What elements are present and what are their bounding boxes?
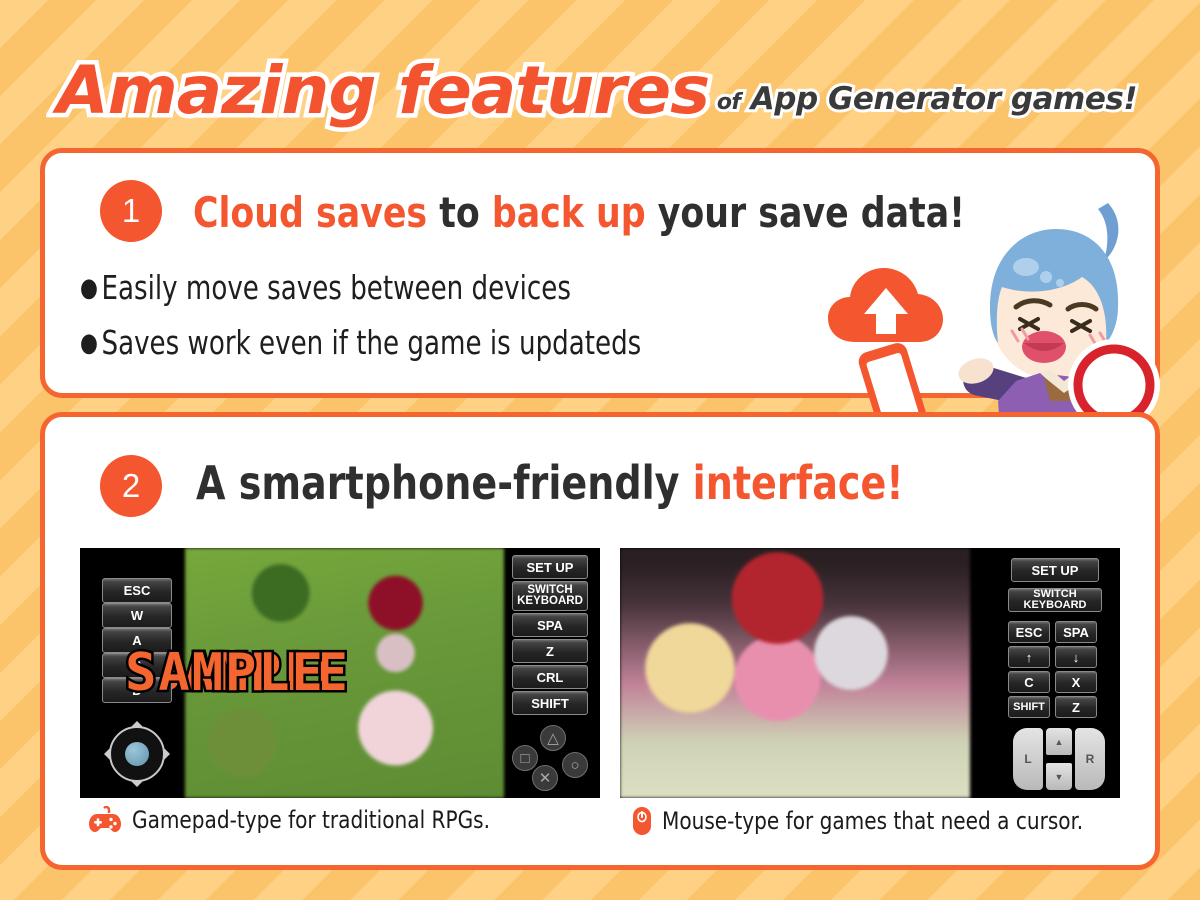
feature-headline-2: A smartphone-friendly interface! — [196, 456, 904, 510]
feature-bullets-1: ●Easily move saves between devices ●Save… — [80, 268, 718, 378]
key-spa-left[interactable]: SPA — [512, 613, 588, 637]
key-c-right[interactable]: C — [1008, 671, 1050, 693]
key-shift-right[interactable]: SHIFT — [1008, 696, 1050, 718]
key-arrow-up-right[interactable]: ↑ — [1008, 646, 1050, 668]
headline-part-cloud-saves: Cloud saves — [193, 188, 427, 237]
headline-part-back-up: back up — [492, 188, 646, 237]
bullet-text: Saves work even if the game is updateds — [101, 323, 641, 362]
caption-gamepad: Gamepad-type for traditional RPGs. — [88, 806, 517, 834]
bullet-text: Easily move saves between devices — [101, 268, 570, 307]
caption-mouse: Mouse-type for games that need a cursor. — [632, 806, 1115, 836]
character-illustration — [940, 195, 1170, 430]
stick-arrow-up-icon — [131, 715, 143, 727]
key-x-right[interactable]: X — [1055, 671, 1097, 693]
face-button-circle[interactable]: ○ — [562, 752, 588, 778]
key-setup-left[interactable]: SET UP — [512, 555, 588, 579]
key-z-right[interactable]: Z — [1055, 696, 1097, 718]
feature-number-badge-1: 1 — [100, 180, 162, 242]
cloud-upload-icon — [826, 262, 946, 352]
mouse-icon — [632, 806, 652, 836]
key-esc-left[interactable]: ESC — [102, 578, 172, 603]
face-button-cross[interactable]: ✕ — [532, 765, 558, 791]
headline-part-save-data: your save data! — [646, 188, 965, 237]
key-setup-right[interactable]: SET UP — [1011, 558, 1099, 582]
key-crl-left[interactable]: CRL — [512, 665, 588, 689]
caption-gamepad-text: Gamepad-type for traditional RPGs. — [132, 806, 490, 834]
key-spa-right[interactable]: SPA — [1055, 621, 1097, 643]
key-shift-left[interactable]: SHIFT — [512, 691, 588, 715]
feature-number-1: 1 — [122, 192, 140, 230]
face-button-triangle[interactable]: △ — [540, 725, 566, 751]
bullet-dot-icon: ● — [80, 328, 98, 358]
headline-part-interface: interface! — [693, 456, 904, 510]
title-sub-main: App Generator games! — [751, 81, 1137, 117]
key-w-left[interactable]: W — [102, 603, 172, 628]
caption-mouse-text: Mouse-type for games that need a cursor. — [662, 807, 1083, 835]
game-artwork-right — [620, 548, 970, 798]
stick-arrow-left-icon — [98, 748, 110, 760]
pad-button-down[interactable]: ▼ — [1046, 763, 1072, 790]
headline-part-to: to — [427, 188, 492, 237]
analog-stick-left[interactable] — [101, 718, 173, 790]
title-sub-prefix: of — [717, 90, 741, 115]
lr-directional-pad[interactable]: L R ▲ ▼ — [1013, 728, 1105, 790]
key-z-left[interactable]: Z — [512, 639, 588, 663]
feature-headline-1: Cloud saves to back up your save data! — [193, 188, 965, 237]
bullet-dot-icon: ● — [80, 273, 98, 303]
key-arrow-down-right[interactable]: ↓ — [1055, 646, 1097, 668]
title-sub-text: of App Generator games! — [717, 84, 1137, 124]
pad-button-r[interactable]: R — [1075, 728, 1105, 790]
stick-arrow-down-icon — [131, 781, 143, 793]
page-title: Amazing features of App Generator games! — [0, 34, 1200, 124]
feature-number-badge-2: 2 — [100, 455, 162, 517]
key-switch-keyboard-left[interactable]: SWITCH KEYBOARD — [512, 581, 588, 611]
title-main-text: Amazing features — [57, 58, 710, 124]
key-switch-keyboard-right[interactable]: SWITCH KEYBOARD — [1008, 588, 1102, 612]
gamepad-icon — [88, 806, 122, 834]
bullet-item: ●Saves work even if the game is updateds — [80, 323, 641, 362]
stick-arrow-right-icon — [164, 748, 176, 760]
pad-button-up[interactable]: ▲ — [1046, 728, 1072, 755]
bullet-item: ●Easily move saves between devices — [80, 268, 641, 307]
headline-part-smartphone-friendly: A smartphone-friendly — [196, 456, 693, 510]
feature-number-2: 2 — [122, 467, 140, 505]
face-button-square[interactable]: □ — [512, 745, 538, 771]
pad-button-l[interactable]: L — [1013, 728, 1043, 790]
analog-stick-knob[interactable] — [125, 742, 149, 766]
sample-watermark-right: SAMPLE — [125, 643, 325, 703]
key-esc-right[interactable]: ESC — [1008, 621, 1050, 643]
